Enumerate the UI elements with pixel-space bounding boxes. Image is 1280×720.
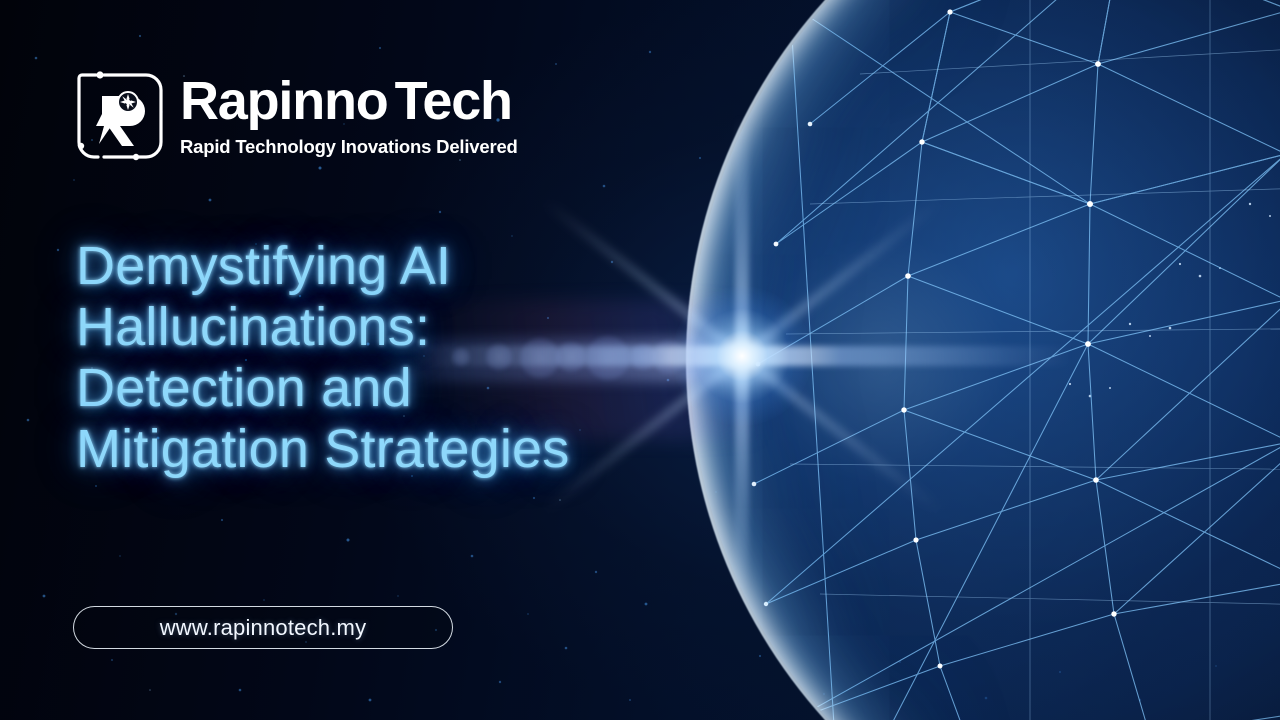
website-url-pill[interactable]: www.rapinnotech.my <box>73 606 453 649</box>
headline-line-4: Mitigation Strategies <box>76 419 736 480</box>
brand-wordmark: RapinnoTech Rapid Technology Inovations … <box>180 74 518 158</box>
headline-line-3: Detection and <box>76 358 736 419</box>
brand-tagline: Rapid Technology Inovations Delivered <box>180 136 518 158</box>
brand-name-part1: Rapinno <box>180 71 388 131</box>
brand-name-part2: Tech <box>395 71 512 131</box>
brand-logo[interactable]: RapinnoTech Rapid Technology Inovations … <box>74 70 518 162</box>
brand-name: RapinnoTech <box>180 74 518 128</box>
headline-line-1: Demystifying AI <box>76 236 736 297</box>
headline-line-2: Hallucinations: <box>76 297 736 358</box>
page-title: Demystifying AI Hallucinations: Detectio… <box>76 236 736 480</box>
website-url-text: www.rapinnotech.my <box>160 615 367 641</box>
blog-banner: RapinnoTech Rapid Technology Inovations … <box>0 0 1280 720</box>
rapinno-bracket-r-lightning-icon <box>74 70 166 162</box>
